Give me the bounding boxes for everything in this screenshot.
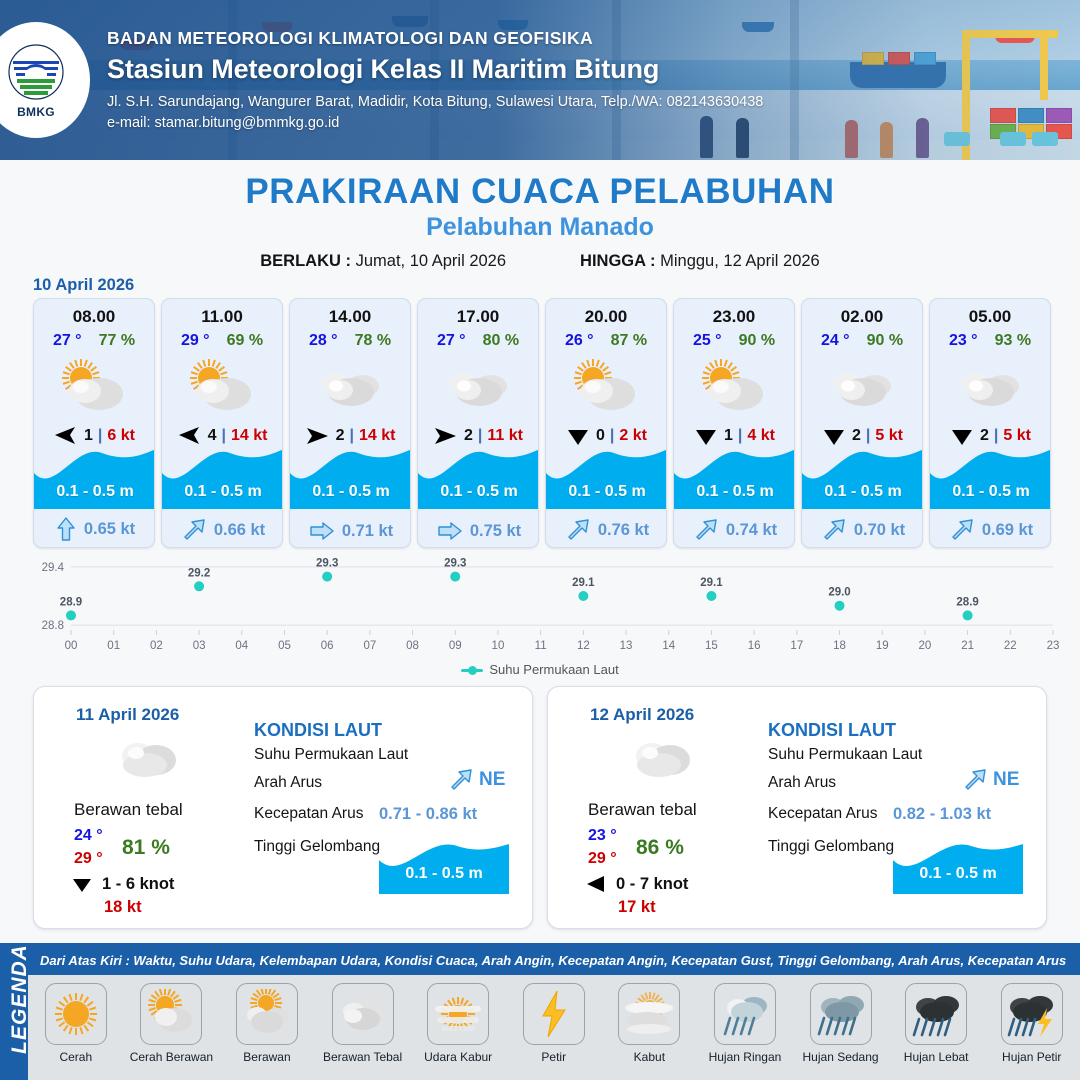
card-gust: 2 kt (619, 427, 647, 445)
card-wave-graphic: 0.1 - 0.5 m (674, 447, 795, 509)
legend-item-label: Udara Kabur (424, 1050, 492, 1064)
card-time: 08.00 (34, 307, 154, 327)
card-current-row: 0.66 kt (162, 518, 283, 542)
valid-until-label: HINGGA : (580, 252, 655, 270)
card-current-row: 0.76 kt (546, 518, 667, 542)
card-wave-value: 0.1 - 0.5 m (34, 483, 155, 501)
hour-card[interactable]: 02.00 24 ° 90 % 2 | 5 kt 0.1 - 0.5 m 0.7… (801, 298, 923, 548)
page-header: BMKG BADAN METEOROLOGI KLIMATOLOGI DAN G… (0, 0, 1080, 160)
hour-card[interactable]: 20.00 26 ° 87 % 0 | 2 kt 0.1 - 0.5 m 0.7… (545, 298, 667, 548)
card-gust: 5 kt (875, 427, 903, 445)
card-humidity: 78 % (355, 332, 391, 350)
thunderstorm-icon (1001, 983, 1063, 1045)
svg-text:20: 20 (919, 640, 932, 652)
card-wave-value: 0.1 - 0.5 m (290, 483, 411, 501)
bmkg-logo-text: BMKG (5, 105, 67, 119)
day-condition: Berawan tebal (74, 800, 183, 820)
card-wave-graphic: 0.1 - 0.5 m (162, 447, 283, 509)
svg-text:28.9: 28.9 (956, 596, 978, 608)
legend-item[interactable]: Petir (506, 975, 602, 1064)
card-current-value: 0.74 kt (726, 521, 777, 540)
day-panel-12-april: 12 April 2026 Berawan tebal 23 ° 29 ° 86… (547, 686, 1047, 929)
card-wave-graphic: 0.1 - 0.5 m (930, 447, 1051, 509)
card-wave-value: 0.1 - 0.5 m (802, 483, 923, 501)
hour-card[interactable]: 08.00 27 ° 77 % 1 | 6 kt 0.1 - 0.5 m 0.6… (33, 298, 155, 548)
svg-text:29.4: 29.4 (42, 562, 65, 574)
card-weather-icon (930, 356, 1050, 418)
page-title: PRAKIRAAN CUACA PELABUHAN (0, 172, 1080, 212)
sea-current-speed: 0.82 - 1.03 kt (893, 805, 991, 824)
card-gust: 14 kt (231, 427, 267, 445)
legend-item-label: Cerah (59, 1050, 92, 1064)
card-current-value: 0.76 kt (598, 521, 649, 540)
svg-text:04: 04 (235, 640, 248, 652)
legend-item[interactable]: Cerah Berawan (124, 975, 220, 1064)
heavy-rain-icon (905, 983, 967, 1045)
svg-text:16: 16 (748, 640, 761, 652)
station-email: e-mail: stamar.bitung@bmmkg.go.id (107, 115, 763, 131)
card-weather-icon (546, 356, 666, 418)
card-gust: 4 kt (747, 427, 775, 445)
card-time: 05.00 (930, 307, 1050, 327)
legend-item[interactable]: Hujan Sedang (793, 975, 889, 1064)
card-wave-graphic: 0.1 - 0.5 m (418, 447, 539, 509)
card-temp: 25 ° (693, 332, 722, 350)
card-time: 17.00 (418, 307, 538, 327)
sea-dir-label: Arah Arus (254, 774, 322, 792)
card-wind-row: 0 | 2 kt (546, 424, 666, 448)
day-wind-range: 0 - 7 knot (616, 875, 688, 894)
card-weather-icon (802, 356, 922, 418)
day-temp-min: 24 ° (74, 827, 103, 845)
legend-item[interactable]: Kabut (602, 975, 698, 1064)
hour-card[interactable]: 05.00 23 ° 93 % 2 | 5 kt 0.1 - 0.5 m 0.6… (929, 298, 1051, 548)
card-wave-value: 0.1 - 0.5 m (418, 483, 539, 501)
day-wind-range: 1 - 6 knot (102, 875, 174, 894)
card-wave-value: 0.1 - 0.5 m (546, 483, 667, 501)
svg-text:02: 02 (150, 640, 163, 652)
card-wave-value: 0.1 - 0.5 m (930, 483, 1051, 501)
arrow-east-icon (433, 425, 459, 447)
page-subtitle: Pelabuhan Manado (0, 213, 1080, 242)
card-time: 11.00 (162, 307, 282, 327)
forecast-date-label: 10 April 2026 (33, 276, 134, 295)
card-time: 20.00 (546, 307, 666, 327)
card-separator: | (994, 427, 998, 445)
card-current-row: 0.65 kt (34, 516, 155, 542)
sea-current-direction: NE (446, 767, 505, 793)
hour-card[interactable]: 23.00 25 ° 90 % 1 | 4 kt 0.1 - 0.5 m 0.7… (673, 298, 795, 548)
station-address: Jl. S.H. Sarundajang, Wangurer Barat, Ma… (107, 94, 763, 110)
cloud-sun-icon (236, 983, 298, 1045)
card-wave-graphic: 0.1 - 0.5 m (546, 447, 667, 509)
sun-cloud-icon (140, 983, 202, 1045)
card-humidity: 87 % (611, 332, 647, 350)
sea-dir-label: Arah Arus (768, 774, 836, 792)
card-temp: 27 ° (53, 332, 82, 350)
hourly-forecast-row: 08.00 27 ° 77 % 1 | 6 kt 0.1 - 0.5 m 0.6… (33, 298, 1051, 548)
day-date: 12 April 2026 (590, 705, 694, 725)
svg-text:12: 12 (577, 640, 590, 652)
hour-card[interactable]: 14.00 28 ° 78 % 2 | 14 kt 0.1 - 0.5 m 0.… (289, 298, 411, 548)
day-date: 11 April 2026 (76, 705, 179, 725)
card-wind-row: 2 | 5 kt (802, 424, 922, 448)
day-wind: 0 - 7 knot (584, 874, 688, 894)
card-humidity: 69 % (227, 332, 263, 350)
svg-text:23: 23 (1047, 640, 1060, 652)
legend-items-row: Cerah Cerah Berawan Berawan Berawan Teba… (28, 975, 1080, 1080)
day-weather-icon (626, 732, 702, 789)
card-current-row: 0.74 kt (674, 518, 795, 542)
card-current-row: 0.75 kt (418, 520, 539, 542)
sea-sst-label: Suhu Permukaan Laut (254, 746, 408, 764)
legend-item[interactable]: Udara Kabur (410, 975, 506, 1064)
day-gust: 18 kt (104, 898, 142, 917)
card-wind-speed: 2 (336, 427, 345, 445)
legend-item[interactable]: Berawan Tebal (315, 975, 411, 1064)
card-wave-value: 0.1 - 0.5 m (674, 483, 795, 501)
svg-text:05: 05 (278, 640, 291, 652)
heavy-cloud-icon (332, 983, 394, 1045)
arrow-up-icon (55, 516, 77, 542)
arrow-ne-icon (693, 518, 719, 542)
card-current-value: 0.65 kt (84, 520, 135, 539)
lightning-icon (523, 983, 585, 1045)
haze-icon (427, 983, 489, 1045)
day-temp-max: 29 ° (588, 850, 617, 868)
card-temp: 24 ° (821, 332, 850, 350)
bmkg-emblem-icon (5, 43, 67, 105)
validity-row: BERLAKU : Jumat, 10 April 2026 HINGGA : … (0, 252, 1080, 271)
card-humidity: 77 % (99, 332, 135, 350)
chart-legend-marker-icon (461, 669, 483, 672)
card-weather-icon (34, 356, 154, 418)
card-wind-row: 4 | 14 kt (162, 424, 282, 448)
svg-text:09: 09 (449, 640, 462, 652)
card-wind-speed: 0 (596, 427, 605, 445)
sea-current-direction: NE (960, 767, 1019, 793)
sea-wave-value: 0.1 - 0.5 m (379, 865, 509, 883)
card-temp: 26 ° (565, 332, 594, 350)
legend-item-label: Hujan Sedang (803, 1050, 879, 1064)
sea-wave-value: 0.1 - 0.5 m (893, 865, 1023, 883)
card-temp: 27 ° (437, 332, 466, 350)
agency-name: BADAN METEOROLOGI KLIMATOLOGI DAN GEOFIS… (107, 28, 763, 49)
legend-item[interactable]: Hujan Ringan (697, 975, 793, 1064)
svg-text:29.1: 29.1 (700, 577, 723, 589)
card-wave-graphic: 0.1 - 0.5 m (34, 447, 155, 509)
card-wind-row: 1 | 6 kt (34, 424, 154, 448)
moderate-rain-icon (810, 983, 872, 1045)
sst-chart-svg: 28.829.400010203040506070809101112131415… (25, 552, 1060, 657)
svg-text:03: 03 (193, 640, 206, 652)
card-time: 14.00 (290, 307, 410, 327)
svg-text:21: 21 (961, 640, 974, 652)
card-wind-row: 2 | 14 kt (290, 424, 410, 448)
arrow-sw-icon (949, 425, 975, 447)
card-wind-speed: 4 (208, 427, 217, 445)
card-separator: | (221, 427, 225, 445)
card-wind-row: 2 | 5 kt (930, 424, 1050, 448)
legend-item-label: Petir (541, 1050, 566, 1064)
day-wind: 1 - 6 knot (70, 874, 174, 894)
card-gust: 14 kt (359, 427, 395, 445)
card-humidity: 90 % (739, 332, 775, 350)
arrow-east-icon (305, 425, 331, 447)
card-humidity: 80 % (483, 332, 519, 350)
hour-card[interactable]: 11.00 29 ° 69 % 4 | 14 kt 0.1 - 0.5 m 0.… (161, 298, 283, 548)
card-current-value: 0.71 kt (342, 522, 393, 541)
svg-text:29.1: 29.1 (572, 577, 595, 589)
svg-text:22: 22 (1004, 640, 1017, 652)
fog-icon (618, 983, 680, 1045)
sea-wave-label: Tinggi Gelombang (768, 838, 894, 856)
sea-condition-title: KONDISI LAUT (254, 720, 382, 741)
day-temp-max: 29 ° (74, 850, 103, 868)
arrow-nw-icon (53, 425, 79, 447)
legend-item-label: Kabut (634, 1050, 665, 1064)
svg-text:08: 08 (406, 640, 419, 652)
legend-note: Dari Atas Kiri : Waktu, Suhu Udara, Kele… (40, 953, 1066, 968)
card-humidity: 90 % (867, 332, 903, 350)
card-wave-graphic: 0.1 - 0.5 m (290, 447, 411, 509)
arrow-nw-icon (177, 425, 203, 447)
hour-card[interactable]: 17.00 27 ° 80 % 2 | 11 kt 0.1 - 0.5 m 0.… (417, 298, 539, 548)
legend-item-label: Berawan Tebal (323, 1050, 402, 1064)
day-temp-min: 23 ° (588, 827, 617, 845)
sea-current-speed: 0.71 - 0.86 kt (379, 805, 477, 824)
day-gust: 17 kt (618, 898, 656, 917)
legend-item[interactable]: Hujan Petir (984, 975, 1080, 1064)
card-wave-value: 0.1 - 0.5 m (162, 483, 283, 501)
card-current-value: 0.69 kt (982, 521, 1033, 540)
card-temp: 28 ° (309, 332, 338, 350)
card-wind-row: 2 | 11 kt (418, 424, 538, 448)
card-weather-icon (674, 356, 794, 418)
card-wave-graphic: 0.1 - 0.5 m (802, 447, 923, 509)
chart-legend-label: Suhu Permukaan Laut (489, 662, 618, 677)
arrow-ne-icon (821, 518, 847, 542)
day-weather-icon (112, 732, 188, 789)
svg-text:00: 00 (65, 640, 78, 652)
valid-from-label: BERLAKU : (260, 252, 351, 270)
arrow-ne-icon (565, 518, 591, 542)
header-text-block: BADAN METEOROLOGI KLIMATOLOGI DAN GEOFIS… (107, 28, 763, 131)
svg-text:06: 06 (321, 640, 334, 652)
legend-item[interactable]: Berawan (219, 975, 315, 1064)
svg-text:15: 15 (705, 640, 718, 652)
arrow-ne-icon (949, 518, 975, 542)
legend-item-label: Hujan Ringan (709, 1050, 782, 1064)
sst-chart: 28.829.400010203040506070809101112131415… (25, 552, 1060, 657)
sea-current-dir-text: NE (479, 769, 505, 791)
legend-item-label: Hujan Lebat (904, 1050, 969, 1064)
day-humidity: 81 % (122, 836, 170, 860)
svg-text:28.9: 28.9 (60, 596, 82, 608)
arrow-ne-icon (181, 518, 207, 542)
svg-text:17: 17 (790, 640, 803, 652)
svg-text:29.3: 29.3 (316, 558, 338, 570)
legend-item-label: Berawan (243, 1050, 290, 1064)
card-wind-speed: 2 (464, 427, 473, 445)
card-current-row: 0.71 kt (290, 520, 411, 542)
svg-text:18: 18 (833, 640, 846, 652)
card-separator: | (610, 427, 614, 445)
svg-text:29.2: 29.2 (188, 567, 210, 579)
arrow-ne-icon (960, 767, 990, 793)
sea-sst-label: Suhu Permukaan Laut (768, 746, 922, 764)
arrow-east-icon (309, 520, 335, 542)
legend-item[interactable]: Cerah (28, 975, 124, 1064)
sea-condition-title: KONDISI LAUT (768, 720, 896, 741)
card-wind-row: 1 | 4 kt (674, 424, 794, 448)
card-separator: | (349, 427, 353, 445)
svg-text:07: 07 (363, 640, 376, 652)
svg-text:14: 14 (662, 640, 675, 652)
card-gust: 11 kt (487, 427, 523, 445)
card-weather-icon (418, 356, 538, 418)
arrow-ne-icon (446, 767, 476, 793)
valid-until: HINGGA : Minggu, 12 April 2026 (580, 252, 820, 271)
svg-text:13: 13 (620, 640, 633, 652)
card-weather-icon (290, 356, 410, 418)
valid-from: BERLAKU : Jumat, 10 April 2026 (260, 252, 506, 271)
arrow-sw-icon (693, 425, 719, 447)
svg-text:29.3: 29.3 (444, 558, 466, 570)
card-weather-icon (162, 356, 282, 418)
card-temp: 23 ° (949, 332, 978, 350)
arrow-sw-icon (565, 425, 591, 447)
light-rain-icon (714, 983, 776, 1045)
svg-text:28.8: 28.8 (42, 620, 64, 632)
sea-speed-label: Kecepatan Arus (768, 805, 877, 823)
day-condition: Berawan tebal (588, 800, 697, 820)
arrow-east-icon (437, 520, 463, 542)
card-separator: | (478, 427, 482, 445)
legend-item[interactable]: Hujan Lebat (888, 975, 984, 1064)
day-panel-11-april: 11 April 2026 Berawan tebal 24 ° 29 ° 81… (33, 686, 533, 929)
svg-text:10: 10 (492, 640, 505, 652)
station-name: Stasiun Meteorologi Kelas II Maritim Bit… (107, 54, 763, 85)
card-wind-speed: 1 (84, 427, 93, 445)
sea-wave-label: Tinggi Gelombang (254, 838, 380, 856)
card-temp: 29 ° (181, 332, 210, 350)
card-current-value: 0.75 kt (470, 522, 521, 541)
sea-current-dir-text: NE (993, 769, 1019, 791)
day-humidity: 86 % (636, 836, 684, 860)
card-separator: | (738, 427, 742, 445)
sunny-icon (45, 983, 107, 1045)
legend-item-label: Cerah Berawan (130, 1050, 213, 1064)
arrow-west-icon (584, 874, 608, 894)
card-separator: | (98, 427, 102, 445)
legend-item-label: Hujan Petir (1002, 1050, 1061, 1064)
card-separator: | (866, 427, 870, 445)
card-gust: 6 kt (107, 427, 135, 445)
sea-speed-label: Kecepatan Arus (254, 805, 363, 823)
card-current-value: 0.70 kt (854, 521, 905, 540)
card-wind-speed: 1 (724, 427, 733, 445)
valid-until-value: Minggu, 12 April 2026 (660, 252, 820, 270)
chart-legend: Suhu Permukaan Laut (0, 662, 1080, 677)
svg-text:19: 19 (876, 640, 889, 652)
svg-text:11: 11 (535, 640, 547, 652)
card-gust: 5 kt (1003, 427, 1031, 445)
card-current-value: 0.66 kt (214, 521, 265, 540)
svg-text:01: 01 (107, 640, 120, 652)
svg-text:29.0: 29.0 (828, 587, 850, 599)
card-wind-speed: 2 (980, 427, 989, 445)
card-time: 23.00 (674, 307, 794, 327)
card-current-row: 0.69 kt (930, 518, 1051, 542)
card-wind-speed: 2 (852, 427, 861, 445)
arrow-sw-icon (821, 425, 847, 447)
valid-from-value: Jumat, 10 April 2026 (356, 252, 506, 270)
card-time: 02.00 (802, 307, 922, 327)
arrow-sw-icon (70, 874, 94, 894)
card-current-row: 0.70 kt (802, 518, 923, 542)
card-humidity: 93 % (995, 332, 1031, 350)
